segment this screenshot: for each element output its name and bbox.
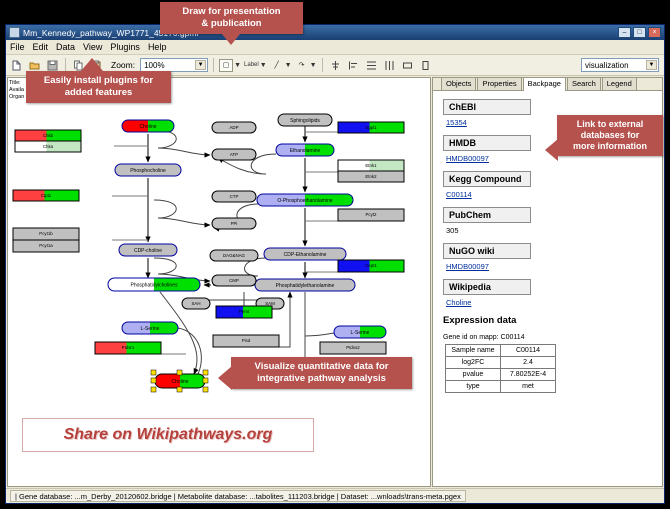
svg-text:Etnk1: Etnk1 [365,163,377,168]
menu-help[interactable]: Help [148,42,167,52]
db-link-kegg[interactable]: C00114 [446,190,662,199]
node-cdp-choline: CDP-choline [119,244,177,256]
expr-value-type: met [501,381,556,393]
window-title: Mm_Kennedy_pathway_WP1771_45176.gpml [23,28,618,38]
gene-chkb: Chkb [15,130,81,141]
svg-text:Pemt: Pemt [239,309,250,314]
node-l-serine-right: L-Serine [334,326,386,338]
share-banner-text: Share on Wikipathways.org [64,426,273,444]
callout-visualize: Visualize quantitative data for integrat… [231,357,412,389]
svg-text:L-Serine: L-Serine [141,326,160,332]
callout-plugins-arrow-icon [81,58,103,71]
close-button[interactable]: × [648,27,661,38]
statusbar-text: | Gene database: ...m_Derby_20120602.bri… [10,490,466,502]
toolbar-separator [213,58,214,72]
svg-text:ADP: ADP [229,125,238,130]
statusbar: | Gene database: ...m_Derby_20120602.bri… [6,488,664,503]
expr-value-log2fc: 2.4 [501,357,556,369]
new-file-icon[interactable] [9,58,24,73]
svg-text:Sgpl1: Sgpl1 [365,125,377,130]
svg-text:Pcyt2: Pcyt2 [366,212,378,217]
svg-text:Phosphocholine: Phosphocholine [130,168,166,174]
node-dagnag: DAG&NAG [210,250,258,261]
expr-value-sample: C00114 [501,345,556,357]
side-panel-tabs: Objects Properties Backpage Search Legen… [433,78,662,91]
callout-visualize-arrow-icon [218,366,232,390]
gene-etnk2: Etnk2 [338,171,404,182]
gene-pcyt1a: Pcyt1a [13,240,79,252]
expression-table: Sample name C00114 log2FC 2.4 pvalue 7.8… [445,344,556,393]
menu-edit[interactable]: Edit [33,42,49,52]
minimize-button[interactable]: – [618,27,631,38]
callout-links-line1: Link to external [563,119,657,130]
gene-etnk1: Etnk1 [338,160,404,171]
node-phosphocholine: Phosphocholine [115,164,181,176]
same-width-icon[interactable] [400,58,415,73]
node-sah: SAH [182,298,210,309]
gene-cept1: Cept1 [338,260,404,272]
chevron-down-icon[interactable]: ▼ [285,62,292,69]
zoom-combobox[interactable]: 100% ▼ [140,58,208,72]
node-ethanolamine-top: Ethanolamine [276,144,334,156]
interaction-dropdown[interactable]: ↷ ▼ [295,59,317,72]
callout-links-line2: databases for [563,130,657,141]
gene-chka: Chka [15,141,81,152]
svg-text:Chka: Chka [43,144,54,149]
gene-pcyt1b: Pcyt1b [13,228,79,240]
svg-text:Phosphatidylethanolamine: Phosphatidylethanolamine [276,283,335,289]
db-block-kegg: Kegg Compound C00114 [443,169,662,199]
screenshot-root: Mm_Kennedy_pathway_WP1771_45176.gpml – □… [0,0,670,509]
tab-search[interactable]: Search [567,77,601,90]
svg-text:Ethanolamine: Ethanolamine [290,148,321,154]
node-l-serine-left: L-Serine [122,322,178,334]
gene-sgpl1: Sgpl1 [338,122,404,133]
node-phosphatidylcholines: Phosphatidylcholines [108,278,200,291]
datanode-icon: ▢ [219,59,233,72]
tab-backpage[interactable]: Backpage [523,77,566,91]
node-o-phosphoethanolamine: O-Phosphoethanolamine [257,194,353,206]
callout-links-line3: more information [563,141,657,152]
svg-text:SAM: SAM [265,301,275,306]
menubar: File Edit Data View Plugins Help [6,40,664,55]
menu-data[interactable]: Data [56,42,75,52]
node-phosphatidylethanolamine: Phosphatidylethanolamine [255,279,355,291]
callout-visualize-line1: Visualize quantitative data for [237,361,406,373]
svg-text:Ctpt1: Ctpt1 [41,193,52,198]
callout-links: Link to external databases for more info… [557,115,663,156]
svg-text:Pcyt1a: Pcyt1a [39,243,53,248]
menu-view[interactable]: View [83,42,102,52]
svg-text:O-Phosphoethanolamine: O-Phosphoethanolamine [277,198,333,204]
db-title-pubchem: PubChem [443,207,531,223]
callout-draw-arrow-icon [222,34,240,45]
db-title-wikipedia: Wikipedia [443,279,531,295]
callout-draw: Draw for presentation & publication [160,2,303,34]
callout-plugins: Easily install plugins for added feature… [26,71,171,103]
svg-text:Ptdss2: Ptdss2 [346,345,360,350]
zoom-label: Zoom: [111,60,135,70]
align-center-icon[interactable] [328,58,343,73]
chevron-down-icon[interactable]: ▼ [195,60,206,70]
gene-id-line: Gene id on mapp: C00114 [443,334,662,341]
db-block-nugo: NuGO wiki HMDB00097 [443,241,662,271]
svg-text:CMP: CMP [229,278,239,283]
label-dropdown-text: Label [244,62,259,68]
table-row: pvalue 7.80252E-4 [446,369,556,381]
line-icon: ╱ [270,59,284,72]
db-value-pubchem: 305 [446,226,662,235]
tab-properties[interactable]: Properties [477,77,521,90]
datanode-dropdown[interactable]: ▢ ▼ [219,59,241,72]
gene-pisd: Pisd [213,335,279,347]
distribute-horizontal-icon[interactable] [382,58,397,73]
share-banner: Share on Wikipathways.org [22,418,314,452]
db-block-pubchem: PubChem 305 [443,205,662,235]
node-cdp-ethanolamine: CDP-Ethanolamine [264,248,346,260]
svg-text:Chkb: Chkb [43,133,54,138]
toolbar-separator [322,58,323,72]
node-choline-bottom-selected: Choline [151,370,208,392]
callout-visualize-line2: integrative pathway analysis [237,373,406,385]
db-title-nugo: NuGO wiki [443,243,531,259]
node-cmp: CMP [212,275,256,286]
toolbar-separator [65,58,66,72]
svg-text:CDP-choline: CDP-choline [134,248,162,254]
gene-ptdss2: Ptdss2 [320,342,386,354]
align-left-icon[interactable] [346,58,361,73]
visualization-combobox[interactable]: visualization ▼ [581,58,659,72]
gene-ptdsr1: Ptdsr1 [95,342,161,354]
chevron-down-icon[interactable]: ▼ [310,62,317,69]
db-block-wikipedia: Wikipedia Choline [443,277,662,307]
table-row: Sample name C00114 [446,345,556,357]
same-height-icon[interactable] [418,58,433,73]
chevron-down-icon[interactable]: ▼ [234,62,241,69]
tab-legend[interactable]: Legend [602,77,637,90]
gene-ctpt1: Ctpt1 [13,190,79,201]
svg-text:Cept1: Cept1 [365,263,377,268]
svg-text:Sphingolipids: Sphingolipids [290,118,320,124]
db-title-kegg: Kegg Compound [443,171,531,187]
svg-text:L-Serine: L-Serine [351,330,370,336]
menu-plugins[interactable]: Plugins [110,42,140,52]
db-link-nugo[interactable]: HMDB00097 [446,262,662,271]
window-controls: – □ × [618,27,661,38]
svg-text:Choline: Choline [140,124,157,130]
svg-text:Etnk2: Etnk2 [365,174,377,179]
chevron-down-icon[interactable]: ▼ [646,60,657,70]
menu-file[interactable]: File [10,42,25,52]
db-link-wikipedia[interactable]: Choline [446,298,662,307]
svg-text:CTP: CTP [230,194,239,199]
expr-value-pvalue: 7.80252E-4 [501,369,556,381]
callout-links-arrow-icon [545,139,558,161]
svg-text:CDP-Ethanolamine: CDP-Ethanolamine [284,252,327,258]
node-sphingolipids: Sphingolipids [278,114,332,126]
svg-text:ATP: ATP [230,152,238,157]
chevron-down-icon[interactable]: ▼ [260,62,267,69]
zoom-value: 100% [144,61,164,70]
db-title-chebi: ChEBI [443,99,531,115]
visualization-value: visualization [585,61,629,70]
callout-draw-line1: Draw for presentation [166,6,297,18]
svg-text:Ptdsr1: Ptdsr1 [122,345,135,350]
table-row: log2FC 2.4 [446,357,556,369]
expression-data-title: Expression data [443,315,662,326]
db-title-hmdb: HMDB [443,135,531,151]
distribute-vertical-icon[interactable] [364,58,379,73]
callout-plugins-line1: Easily install plugins for [32,75,165,87]
node-choline-top: Choline [122,120,174,132]
svg-text:Pcyt1b: Pcyt1b [39,231,53,236]
node-ppi: PPi [212,218,256,229]
expr-label-sample: Sample name [446,345,501,357]
node-atp: ATP [212,149,256,160]
maximize-button[interactable]: □ [633,27,646,38]
node-ctp: CTP [212,191,256,202]
app-icon [9,27,20,38]
svg-text:DAG&NAG: DAG&NAG [223,253,246,258]
window-titlebar: Mm_Kennedy_pathway_WP1771_45176.gpml – □… [6,25,664,40]
node-adp: ADP [212,122,256,133]
svg-text:Choline: Choline [172,379,189,385]
line-dropdown[interactable]: ╱ ▼ [270,59,292,72]
svg-text:SAH: SAH [191,301,200,306]
gene-pemt: Pemt [216,306,272,318]
expr-label-log2fc: log2FC [446,357,501,369]
expr-label-pvalue: pvalue [446,369,501,381]
callout-draw-line2: & publication [166,18,297,30]
svg-text:Pisd: Pisd [242,338,251,343]
gene-pcyt2: Pcyt2 [338,209,404,221]
interaction-icon: ↷ [295,59,309,72]
svg-text:PPi: PPi [231,221,238,226]
svg-text:Phosphatidylcholines: Phosphatidylcholines [131,282,178,288]
label-dropdown[interactable]: Label ▼ [244,62,267,69]
tab-objects[interactable]: Objects [441,77,476,90]
callout-plugins-line2: added features [32,87,165,99]
table-row: type met [446,381,556,393]
expr-label-type: type [446,381,501,393]
